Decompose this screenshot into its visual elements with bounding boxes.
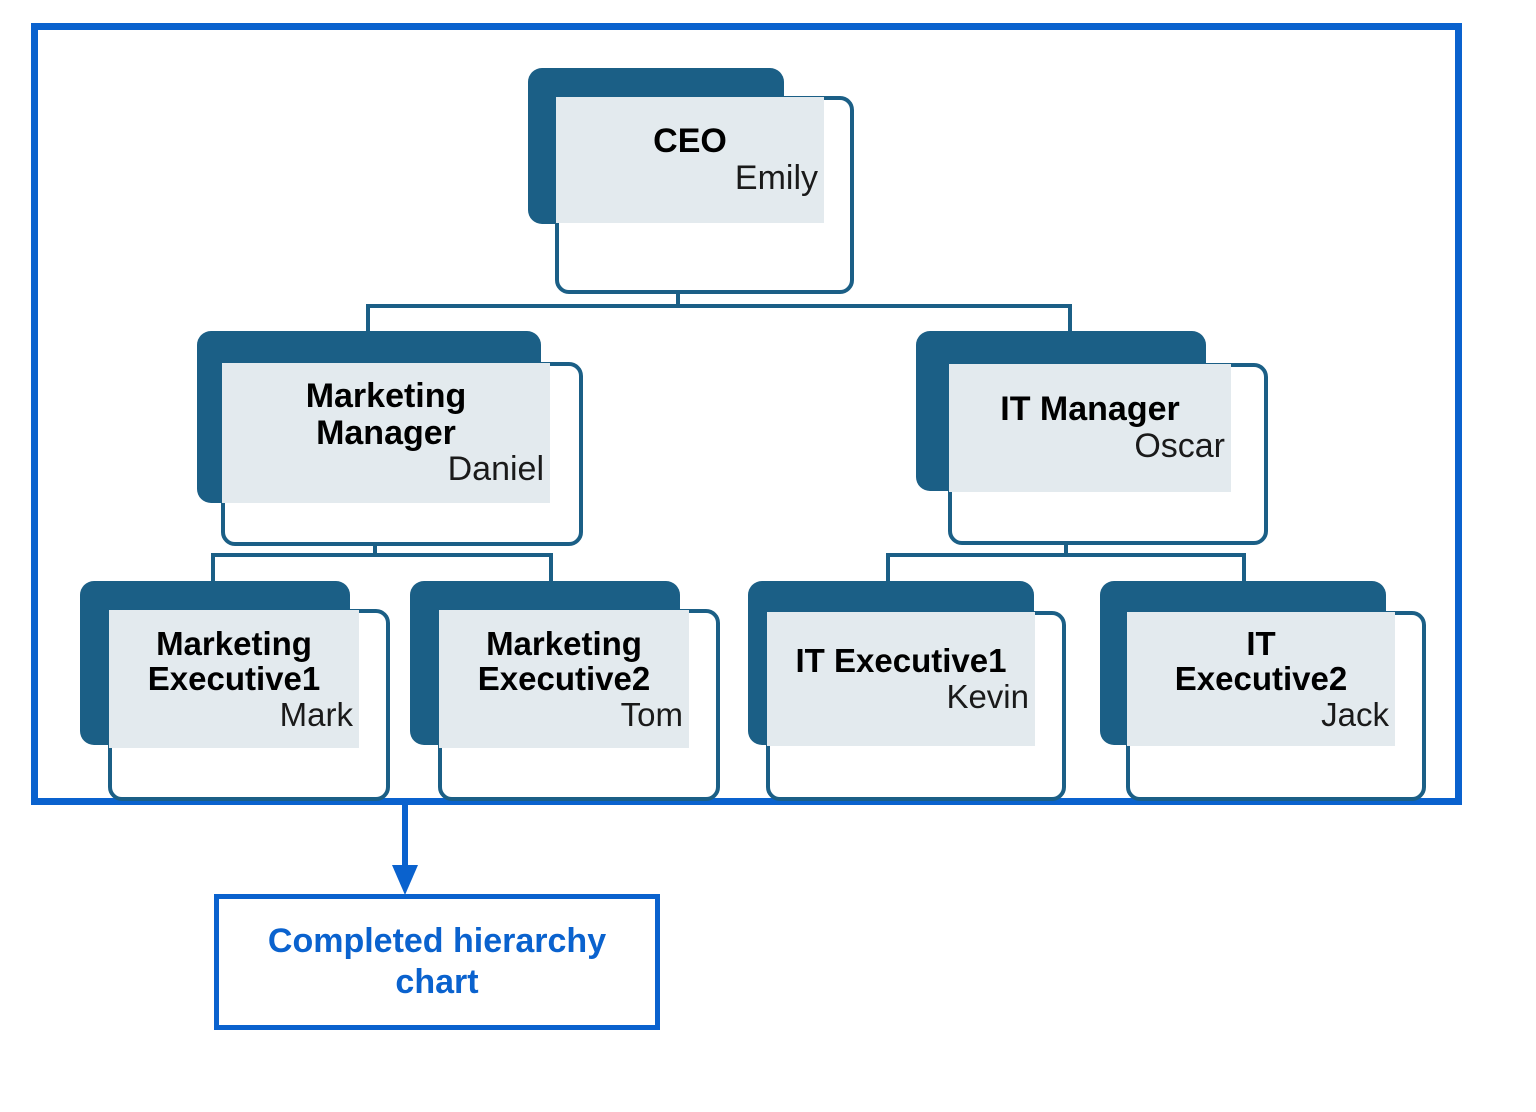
node-it-manager-person: Oscar — [955, 428, 1225, 465]
node-marketing-executive2-person: Tom — [445, 697, 683, 733]
node-it-manager[interactable]: IT Manager Oscar — [916, 331, 1276, 531]
node-it-manager-title: IT Manager — [955, 391, 1225, 428]
node-it-executive2-band: IT Executive2 Jack — [1127, 612, 1395, 746]
node-it-executive2-person: Jack — [1133, 697, 1389, 733]
node-ceo-person: Emily — [562, 160, 818, 197]
connector-ceo-bus — [366, 304, 1072, 308]
diagram-canvas: CEO Emily Marketing Manager Daniel IT Ma… — [0, 0, 1536, 1112]
node-marketing-manager[interactable]: Marketing Manager Daniel — [197, 331, 597, 531]
node-marketing-manager-title: Marketing Manager — [228, 378, 544, 451]
node-marketing-executive2-band: Marketing Executive2 Tom — [439, 610, 689, 748]
caption-arrow-icon — [380, 805, 430, 897]
node-marketing-executive1[interactable]: Marketing Executive1 Mark — [80, 581, 390, 781]
node-marketing-manager-band: Marketing Manager Daniel — [222, 363, 550, 503]
node-marketing-manager-person: Daniel — [228, 451, 544, 488]
connector-it-manager-bus — [886, 553, 1246, 557]
node-it-manager-band: IT Manager Oscar — [949, 364, 1231, 492]
node-marketing-executive1-title: Marketing Executive1 — [115, 626, 353, 697]
node-it-executive1-band: IT Executive1 Kevin — [767, 612, 1035, 746]
caption-box: Completed hierarchy chart — [214, 894, 660, 1030]
node-marketing-executive1-person: Mark — [115, 697, 353, 733]
node-ceo-title: CEO — [562, 123, 818, 160]
node-it-executive1[interactable]: IT Executive1 Kevin — [748, 581, 1068, 781]
connector-marketing-manager-bus — [211, 553, 553, 557]
node-it-executive2[interactable]: IT Executive2 Jack — [1100, 581, 1430, 781]
node-marketing-executive1-band: Marketing Executive1 Mark — [109, 610, 359, 748]
node-it-executive1-person: Kevin — [773, 679, 1029, 715]
node-it-executive2-title: IT Executive2 — [1133, 626, 1389, 697]
node-marketing-executive2[interactable]: Marketing Executive2 Tom — [410, 581, 720, 781]
caption-label: Completed hierarchy chart — [268, 921, 606, 1004]
node-it-executive1-title: IT Executive1 — [773, 643, 1029, 679]
node-ceo-band: CEO Emily — [556, 97, 824, 223]
node-marketing-executive2-title: Marketing Executive2 — [445, 626, 683, 697]
node-ceo[interactable]: CEO Emily — [528, 68, 828, 268]
